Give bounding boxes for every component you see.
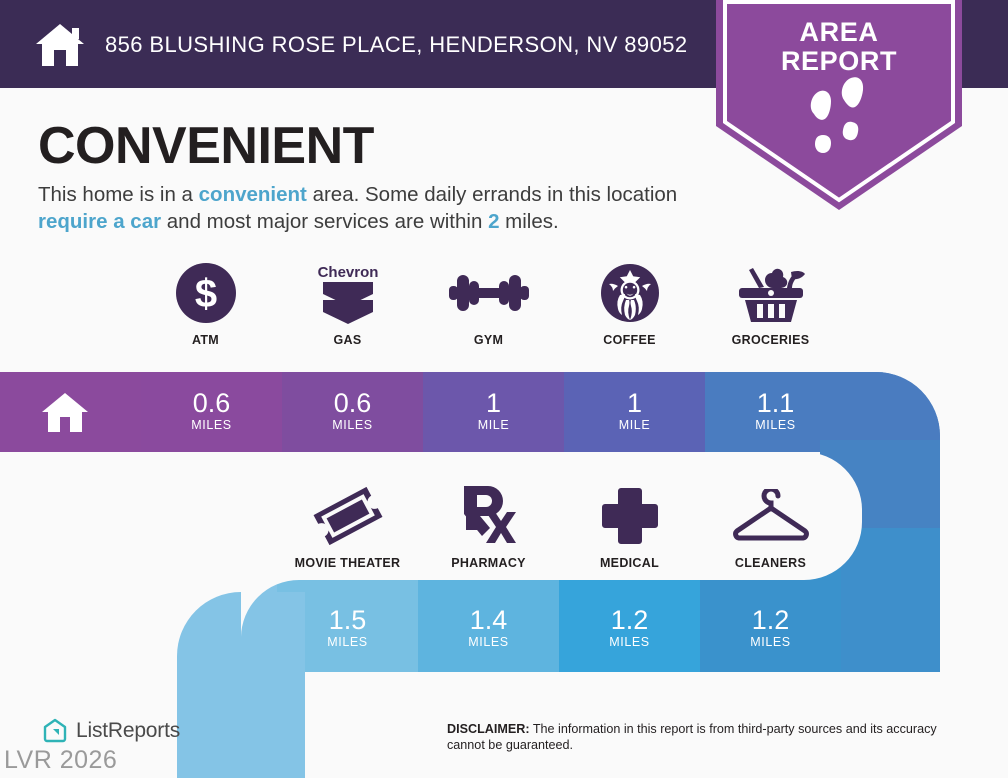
rx-icon [458,484,520,548]
svg-text:$: $ [194,272,216,316]
distance-unit: MILES [282,418,423,433]
dumbbell-icon [449,269,529,317]
amenity-coffee: COFFEE [559,262,700,347]
badge-line-2: REPORT [781,46,897,76]
amenity-atm: $ ATM [135,262,276,347]
amenity-label: GYM [418,333,559,347]
distance-medical: 1.2 MILES [559,605,700,650]
amenity-label: MOVIE THEATER [277,556,418,570]
page-title: CONVENIENT [38,118,374,174]
medical-cross-icon [600,486,660,546]
distance-unit: MILES [141,418,282,433]
distance-value: 1.2 [700,605,841,635]
svg-text:Chevron: Chevron [317,264,378,281]
distance-unit: MILES [559,635,700,650]
grocery-basket-icon [735,262,807,324]
amenity-pharmacy: PHARMACY [418,485,559,570]
amenity-label: GAS [277,333,418,347]
distance-gym: 1 MILE [423,388,564,433]
house-icon [34,22,86,68]
amenity-gas: Chevron GAS [277,262,418,347]
distance-groceries: 1.1 MILES [705,388,846,433]
badge-title: AREA REPORT [716,18,962,76]
distance-value: 1.4 [418,605,559,635]
distance-value: 0.6 [282,388,423,418]
distance-coffee: 1 MILE [564,388,705,433]
distance-cleaners: 1.2 MILES [700,605,841,650]
amenity-label: COFFEE [559,333,700,347]
distance-pharmacy: 1.4 MILES [418,605,559,650]
distance-movie-theater: 1.5 MILES [277,605,418,650]
distance-value: 1.1 [705,388,846,418]
distance-value: 1.5 [277,605,418,635]
distance-value: 1 [564,388,705,418]
distance-unit: MILE [423,418,564,433]
amenity-groceries: GROCERIES [700,262,841,347]
chevron-gas-icon: Chevron [315,262,381,324]
amenity-label: ATM [135,333,276,347]
highlighted-term: 2 [488,210,499,233]
amenity-gym: GYM [418,262,559,347]
amenity-movie-theater: MOVIE THEATER [277,485,418,570]
hanger-icon [731,489,811,543]
ticket-icon [312,485,384,547]
distance-unit: MILES [277,635,418,650]
distance-atm: 0.6 MILES [141,388,282,433]
amenity-label: PHARMACY [418,556,559,570]
property-address: 856 BLUSHING ROSE PLACE, HENDERSON, NV 8… [105,32,687,58]
distance-unit: MILES [700,635,841,650]
badge-line-1: AREA [800,17,879,47]
distance-unit: MILES [705,418,846,433]
brand-logo: ListReports [42,718,180,744]
distance-unit: MILES [418,635,559,650]
amenity-cleaners: CLEANERS [700,485,841,570]
home-marker-icon [41,392,89,433]
watermark-text: LVR 2026 [4,746,117,775]
distance-gas: 0.6 MILES [282,388,423,433]
summary-description: This home is in a convenient area. Some … [38,182,728,235]
dollar-circle-icon: $ [175,262,237,324]
amenity-label: CLEANERS [700,556,841,570]
amenity-label: MEDICAL [559,556,700,570]
listreports-logo-icon [42,718,68,744]
distance-value: 1.2 [559,605,700,635]
highlighted-term: convenient [199,183,307,206]
area-report-badge: AREA REPORT [716,0,962,210]
starbucks-siren-icon [599,262,661,324]
brand-name: ListReports [76,719,180,743]
disclaimer: DISCLAIMER: The information in this repo… [447,721,967,753]
highlighted-term: require a car [38,210,161,233]
distance-unit: MILE [564,418,705,433]
distance-value: 1 [423,388,564,418]
distance-value: 0.6 [141,388,282,418]
amenity-label: GROCERIES [700,333,841,347]
amenity-medical: MEDICAL [559,485,700,570]
disclaimer-label: DISCLAIMER: [447,722,530,736]
